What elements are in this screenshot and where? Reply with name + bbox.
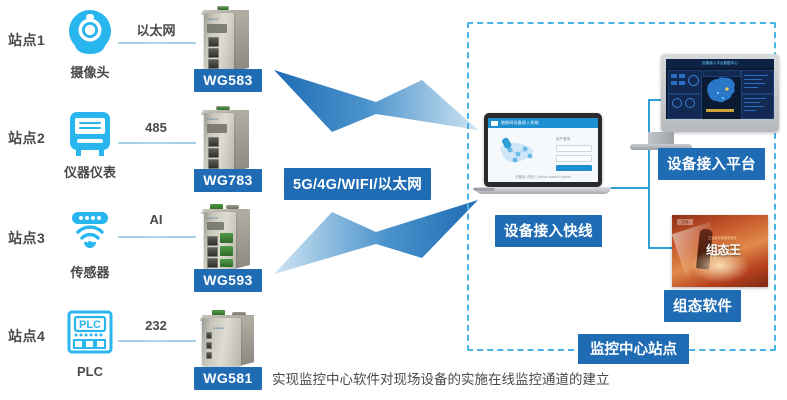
laptop-notch	[473, 188, 495, 191]
laptop-base	[475, 187, 611, 194]
router-model-3: WG593	[194, 269, 262, 292]
software-subtitle: 工业自动化组态软件	[708, 235, 737, 240]
protocol-label-4: 232	[118, 318, 194, 333]
device-name-2: 仪器仪表	[35, 162, 145, 181]
station-label-2: 站点2	[8, 128, 45, 148]
link-line-2	[118, 142, 196, 144]
dashboard-china-map	[703, 73, 739, 107]
software-box-art: 正版 工业自动化组态软件 组态王 6.53	[672, 215, 768, 287]
laptop-form-title: 用户登录	[556, 137, 592, 142]
uplink-arrow-top	[272, 58, 482, 146]
router-model-4: WG581	[194, 367, 262, 390]
laptop-app-title: 物联网设备接入系统	[501, 120, 539, 126]
svg-text:PLC: PLC	[79, 319, 101, 331]
camera-icon	[62, 8, 118, 60]
laptop-password-input[interactable]	[556, 155, 592, 162]
laptop-footer-text: 设备接入快线丨Device Access Express	[488, 174, 598, 179]
monitor-frame: 设备接入平台数据中心	[661, 54, 779, 132]
laptop-label: 设备接入快线	[495, 215, 602, 247]
laptop-lid: 物联网设备接入系统	[484, 113, 602, 187]
protocol-label-3: AI	[118, 212, 194, 227]
monitor-screen: 设备接入平台数据中心	[666, 59, 774, 119]
uplink-arrow-bottom	[272, 196, 482, 284]
software-label: 组态软件	[664, 290, 741, 322]
station-label-1: 站点1	[8, 30, 45, 50]
diagram-canvas: 站点1 摄像头 以太网 InHand WG583 站点2	[0, 0, 787, 400]
device-name-1: 摄像头	[35, 62, 145, 81]
station-label-3: 站点3	[8, 228, 45, 248]
monitor-chin	[661, 120, 779, 132]
dashboard-header: 设备接入平台数据中心	[666, 59, 774, 68]
connector-vertical-trunk	[648, 99, 650, 249]
laptop-app-header: 物联网设备接入系统	[488, 118, 598, 128]
laptop-screen: 物联网设备接入系统	[488, 118, 598, 182]
router-model-1: WG583	[194, 69, 262, 92]
router-model-2: WG783	[194, 169, 262, 192]
plc-icon: PLC	[62, 308, 118, 360]
laptop-app-logo	[491, 121, 498, 126]
zone-label: 监控中心站点	[578, 334, 689, 364]
link-line-1	[118, 42, 196, 44]
software-corner-tag: 正版	[677, 219, 693, 225]
monitor-label: 设备接入平台	[658, 148, 765, 180]
protocol-label-1: 以太网	[118, 20, 194, 39]
software-version: 6.53	[710, 255, 717, 259]
link-line-4	[118, 340, 196, 342]
laptop-map-graphic	[494, 134, 548, 170]
diagram-caption: 实现监控中心软件对现场设备的实施在线监控通道的建立	[272, 368, 610, 388]
device-name-4: PLC	[35, 364, 145, 379]
laptop-app-body: 用户登录 设备接入快线丨Device Access Express	[488, 128, 598, 182]
station-label-4: 站点4	[8, 326, 45, 346]
link-line-3	[118, 236, 196, 238]
device-name-3: 传感器	[35, 262, 145, 281]
sensor-icon	[62, 208, 118, 260]
laptop-login-button[interactable]	[556, 165, 592, 171]
laptop-username-input[interactable]	[556, 145, 592, 152]
dashboard-title: 设备接入平台数据中心	[702, 61, 738, 66]
protocol-label-2: 485	[118, 120, 194, 135]
center-banner: 5G/4G/WIFI/以太网	[284, 168, 431, 200]
laptop-login-form[interactable]: 用户登录	[556, 137, 592, 171]
instrument-icon	[62, 108, 118, 160]
